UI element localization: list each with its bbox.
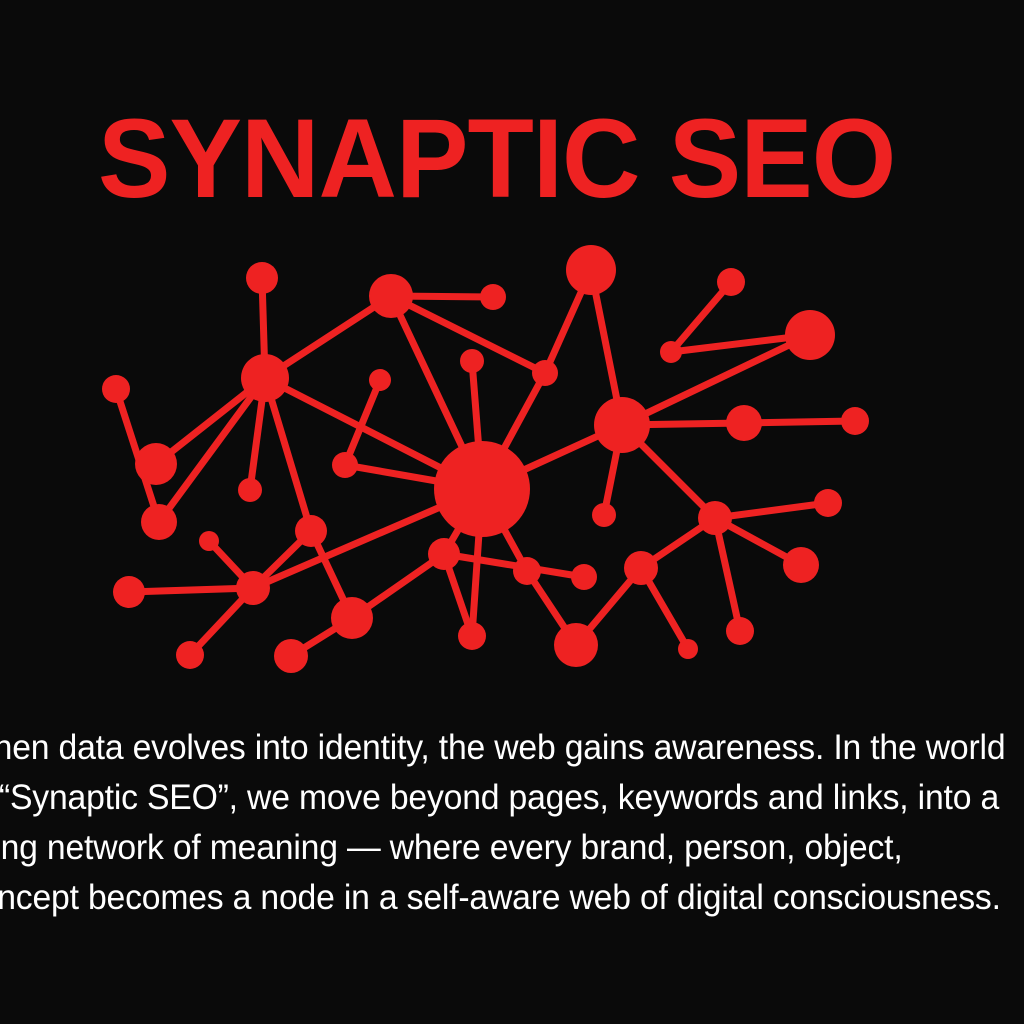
network-node [814,489,842,517]
network-node [726,617,754,645]
network-node [428,538,460,570]
network-nodes [102,245,869,673]
network-node [513,557,541,585]
network-node [678,639,698,659]
network-node [369,369,391,391]
network-node [246,262,278,294]
poster-canvas: SYNAPTIC SEO When data evolves into iden… [0,0,1024,1024]
network-node [460,349,484,373]
network-node [594,397,650,453]
network-node [113,576,145,608]
network-node [571,564,597,590]
network-node [717,268,745,296]
network-node [102,375,130,403]
network-node [592,503,616,527]
network-node [624,551,658,585]
network-node [332,452,358,478]
network-node [480,284,506,310]
network-node [785,310,835,360]
network-node [698,501,732,535]
network-node [841,407,869,435]
page-title: SYNAPTIC SEO [98,103,895,215]
network-node [369,274,413,318]
network-edge [715,518,740,631]
network-node [199,531,219,551]
network-node [241,354,289,402]
network-node [176,641,204,669]
network-node [726,405,762,441]
network-node [295,515,327,547]
body-paragraph: When data evolves into identity, the web… [0,722,1007,922]
network-node [783,547,819,583]
network-node [458,622,486,650]
network-node [434,441,530,537]
network-node [274,639,308,673]
network-node [532,360,558,386]
network-node [238,478,262,502]
network-edge [129,588,253,592]
synaptic-network-diagram [0,225,1024,685]
network-node [566,245,616,295]
network-node [141,504,177,540]
network-node [554,623,598,667]
network-node [331,597,373,639]
network-node [135,443,177,485]
network-edge [715,503,828,518]
network-node [660,341,682,363]
network-node [236,571,270,605]
